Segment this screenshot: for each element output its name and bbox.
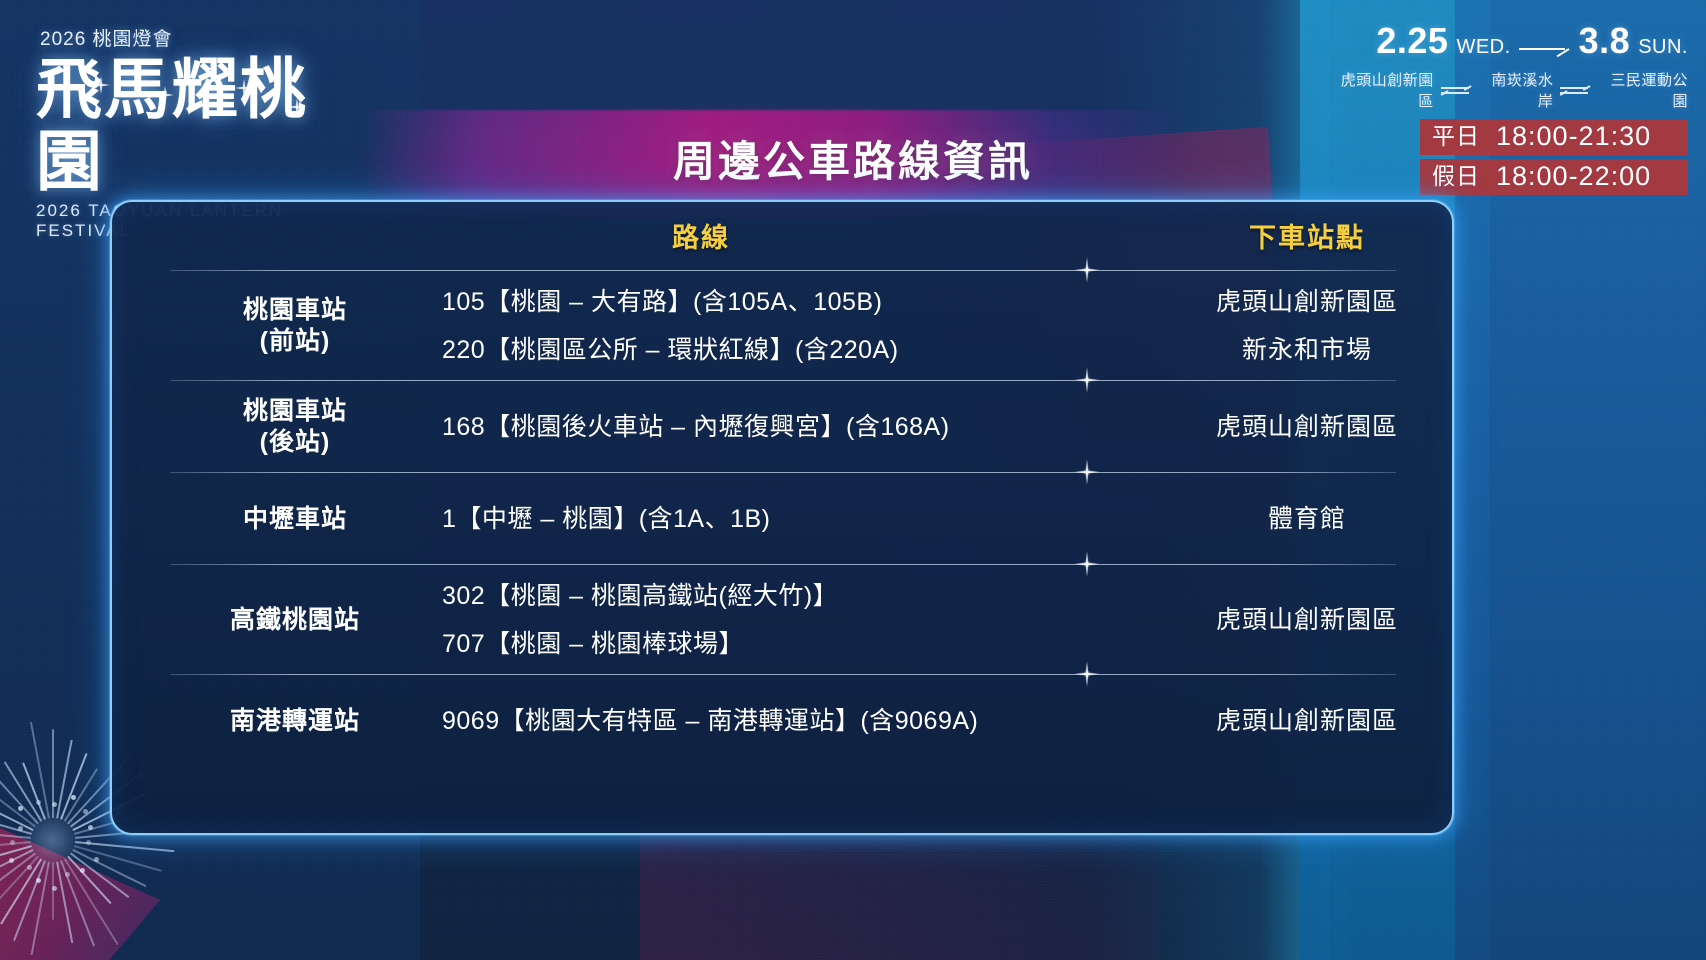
station-name-line: 高鐵桃園站 <box>170 605 420 636</box>
firework-spark-dot <box>36 800 41 805</box>
venue-item-1: 虎頭山創新園區 <box>1328 69 1434 111</box>
route-line: 220【桃園區公所 – 環狀紅線】(含220A) <box>442 326 1142 374</box>
arrow-right-icon <box>1519 37 1571 53</box>
cell-station: 桃園車站(前站) <box>170 295 420 357</box>
station-name-sub: (前站) <box>170 326 420 357</box>
route-line: 168【桃園後火車站 – 內壢復興宮】(含168A) <box>442 403 1142 451</box>
table-row: 南港轉運站9069【桃園大有特區 – 南港轉運站】(含9069A)虎頭山創新園區 <box>112 675 1452 767</box>
firework-spark-dot <box>83 809 88 814</box>
firework-spark-dot <box>52 886 57 891</box>
bus-route-table: 路線 下車站點 桃園車站(前站)105【桃園 – 大有路】(含105A、105B… <box>112 202 1452 833</box>
stop-line: 新永和市場 <box>1152 326 1462 374</box>
cell-routes: 168【桃園後火車站 – 內壢復興宮】(含168A) <box>442 403 1142 451</box>
route-line: 9069【桃園大有特區 – 南港轉運站】(含9069A) <box>442 697 1142 745</box>
station-name-line: 中壢車站 <box>170 504 420 535</box>
cell-station: 高鐵桃園站 <box>170 605 420 636</box>
firework-ray <box>52 862 54 920</box>
firework-spark-dot <box>18 826 23 831</box>
stop-line: 體育館 <box>1152 495 1462 543</box>
station-name-line: 桃園車站 <box>170 295 420 326</box>
firework-spark-dot <box>94 857 99 862</box>
double-arrow-icon <box>1560 84 1590 96</box>
station-name-line: 桃園車站 <box>170 396 420 427</box>
stop-line: 虎頭山創新園區 <box>1152 596 1462 644</box>
stop-line: 虎頭山創新園區 <box>1152 278 1462 326</box>
page-title: 周邊公車路線資訊 <box>0 128 1706 189</box>
cell-stops: 虎頭山創新園區 <box>1152 697 1462 745</box>
firework-spark-dot <box>9 858 14 863</box>
cell-routes: 302【桃園 – 桃園高鐵站(經大竹)】707【桃園 – 桃園棒球場】 <box>442 572 1142 668</box>
venue-item-2: 南崁溪水岸 <box>1478 69 1554 111</box>
firework-spark-dot <box>86 840 91 845</box>
bus-route-panel: 路線 下車站點 桃園車站(前站)105【桃園 – 大有路】(含105A、105B… <box>110 200 1454 835</box>
cell-stops: 體育館 <box>1152 495 1462 543</box>
cell-station: 桃園車站(後站) <box>170 396 420 458</box>
table-row: 桃園車站(後站)168【桃園後火車站 – 內壢復興宮】(含168A)虎頭山創新園… <box>112 381 1452 473</box>
route-line: 105【桃園 – 大有路】(含105A、105B) <box>442 278 1142 326</box>
event-date-range: 2.25 WED. 3.8 SUN. <box>1328 22 1688 60</box>
station-name-line: 南港轉運站 <box>170 706 420 737</box>
table-row: 中壢車站1【中壢 – 桃園】(含1A、1B)體育館 <box>112 473 1452 565</box>
station-name-sub: (後站) <box>170 427 420 458</box>
firework-burst-icon <box>52 840 54 842</box>
route-line: 302【桃園 – 桃園高鐵站(經大竹)】 <box>442 572 1142 620</box>
table-header-row: 路線 下車站點 <box>112 216 1452 264</box>
column-header-route: 路線 <box>672 216 730 255</box>
date-start: 2.25 <box>1376 22 1448 60</box>
stop-line: 虎頭山創新園區 <box>1152 697 1462 745</box>
cell-stops: 虎頭山創新園區 <box>1152 403 1462 451</box>
firework-spark-dot <box>71 795 76 800</box>
cell-routes: 105【桃園 – 大有路】(含105A、105B)220【桃園區公所 – 環狀紅… <box>442 278 1142 374</box>
route-line: 707【桃園 – 桃園棒球場】 <box>442 620 1142 668</box>
venue-list: 虎頭山創新園區 南崁溪水岸 三民運動公園 <box>1328 69 1688 111</box>
route-line: 1【中壢 – 桃園】(含1A、1B) <box>442 495 1142 543</box>
venue-item-3: 三民運動公園 <box>1597 69 1688 111</box>
logo-year-line: 2026 桃園燈會 <box>40 24 366 51</box>
date-end-dow: SUN. <box>1638 36 1688 59</box>
cell-station: 南港轉運站 <box>170 706 420 737</box>
firework-spark-dot <box>52 802 57 807</box>
table-row: 桃園車站(前站)105【桃園 – 大有路】(含105A、105B)220【桃園區… <box>112 271 1452 381</box>
table-row: 高鐵桃園站302【桃園 – 桃園高鐵站(經大竹)】707【桃園 – 桃園棒球場】… <box>112 565 1452 675</box>
cell-stops: 虎頭山創新園區 <box>1152 596 1462 644</box>
date-end: 3.8 <box>1579 22 1631 60</box>
cell-routes: 9069【桃園大有特區 – 南港轉運站】(含9069A) <box>442 697 1142 745</box>
firework-spark-dot <box>10 840 15 845</box>
cell-stops: 虎頭山創新園區新永和市場 <box>1152 278 1462 374</box>
column-header-stop: 下車站點 <box>1167 216 1447 255</box>
stop-line: 虎頭山創新園區 <box>1152 403 1462 451</box>
cell-routes: 1【中壢 – 桃園】(含1A、1B) <box>442 495 1142 543</box>
cell-station: 中壢車站 <box>170 504 420 535</box>
date-start-dow: WED. <box>1456 36 1510 59</box>
double-arrow-icon <box>1441 84 1471 96</box>
